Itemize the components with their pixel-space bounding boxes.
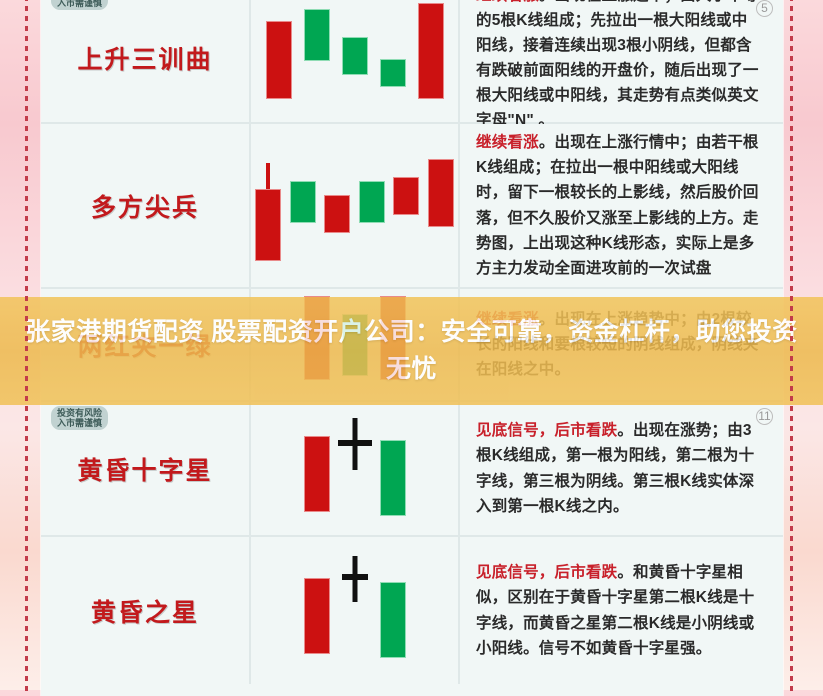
candlestick-group xyxy=(251,537,458,684)
description-keyword: 继续看涨 xyxy=(476,134,539,151)
pattern-description-text: 见底信号，后市看跌。和黄昏十字星相似，区别在于黄昏十字星第二根K线是十字线，而黄… xyxy=(476,560,761,660)
table-row: 多方尖兵继续看涨。出现在上涨行情中；由若干根K线组成；在拉出一根中阳线或大阳线时… xyxy=(41,124,783,289)
candle-body xyxy=(304,436,330,512)
candlestick xyxy=(380,556,406,666)
row-number-badge: 11 xyxy=(756,408,773,425)
candle-body xyxy=(342,314,368,376)
candle-body xyxy=(266,21,292,99)
candlestick-chart-cell xyxy=(251,0,460,122)
left-dotted-border xyxy=(25,0,28,694)
table-row: 投资有风险 入市需谨慎上升三训曲5继续看涨。出现在上涨途中；由大小不等的5根K线… xyxy=(41,0,783,124)
candlestick xyxy=(266,3,292,113)
pattern-name-label: 两红夹一绿 xyxy=(77,327,212,363)
pattern-description-cell: 5继续看涨。出现在上涨途中；由大小不等的5根K线组成；先拉出一根大阳线或中阳线，… xyxy=(460,0,783,122)
candlestick-group xyxy=(251,402,458,535)
pattern-name-cell: 投资有风险 入市需谨慎黄昏十字星 xyxy=(41,402,251,535)
risk-warning-watermark: 投资有风险 入市需谨慎 xyxy=(51,406,108,430)
pattern-description-text: 见底信号，后市看跌。出现在涨势；由3根K线组成，第一根为阳线，第二根为十字线，第… xyxy=(476,418,761,518)
pattern-name-cell: 两红夹一绿 xyxy=(41,289,251,400)
pattern-description-text: 继续看涨。出现在上涨途中；由大小不等的5根K线组成；先拉出一根大阳线或中阳线，接… xyxy=(476,0,761,133)
candlestick xyxy=(395,151,418,261)
pattern-name-cell: 多方尖兵 xyxy=(41,124,251,287)
risk-warning-watermark: 投资有风险 入市需谨慎 xyxy=(51,0,108,10)
description-body: 。出现在上涨行情中；由若干根K线组成；在拉出一根中阳线或大阳线时，留下一根较长的… xyxy=(476,134,759,277)
table-row: 黄昏之星见底信号，后市看跌。和黄昏十字星相似，区别在于黄昏十字星第二根K线是十字… xyxy=(41,537,783,684)
pattern-name-label: 上升三训曲 xyxy=(77,40,212,76)
description-body: 。出现在上涨途中；由大小不等的5根K线组成；先拉出一根大阳线或中阳线，接着连续出… xyxy=(476,0,759,129)
candle-wick xyxy=(266,163,270,191)
candle-body xyxy=(380,59,406,87)
pattern-description-cell: 11见底信号，后市看跌。出现在涨势；由3根K线组成，第一根为阳线，第二根为十字线… xyxy=(460,402,783,535)
candle-body xyxy=(359,181,385,223)
candle-body xyxy=(304,296,330,380)
pattern-name-cell: 黄昏之星 xyxy=(41,537,251,684)
pattern-name-label: 黄昏之星 xyxy=(91,593,199,629)
description-keyword: 继续看涨 xyxy=(476,311,539,328)
description-keyword: 继续看涨 xyxy=(476,0,539,4)
pattern-description-cell: 继续看涨。出现在上涨趋势中；由2根较长的阳线和要根较短的阴线组成，阴线夹在阳线之… xyxy=(460,289,783,400)
table-row: 两红夹一绿继续看涨。出现在上涨趋势中；由2根较长的阳线和要根较短的阴线组成，阴线… xyxy=(41,289,783,402)
candlestick xyxy=(304,3,330,113)
right-dotted-border xyxy=(790,0,793,694)
candlestick-group xyxy=(251,289,458,400)
pattern-description-text: 继续看涨。出现在上涨行情中；由若干根K线组成；在拉出一根中阳线或大阳线时，留下一… xyxy=(476,130,761,281)
candlestick xyxy=(380,414,406,524)
candlestick-chart-cell xyxy=(251,124,460,287)
candlestick-group xyxy=(251,124,458,287)
pattern-name-label: 黄昏十字星 xyxy=(77,451,212,487)
pattern-name-label: 多方尖兵 xyxy=(91,188,199,224)
candlestick xyxy=(257,151,280,261)
candlestick xyxy=(304,556,330,666)
candlestick-chart-cell xyxy=(251,402,460,535)
candlestick xyxy=(342,556,368,666)
candle-body xyxy=(304,578,330,654)
candlestick xyxy=(380,3,406,113)
candlestick xyxy=(342,290,368,400)
pattern-description-cell: 见底信号，后市看跌。和黄昏十字星相似，区别在于黄昏十字星第二根K线是十字线，而黄… xyxy=(460,537,783,684)
candle-body xyxy=(380,440,406,516)
candlestick-group xyxy=(251,0,458,122)
description-keyword: 见底信号， xyxy=(476,422,555,439)
candlestick-chart-cell xyxy=(251,289,460,400)
table-row: 投资有风险 入市需谨慎黄昏十字星11见底信号，后市看跌。出现在涨势；由3根K线组… xyxy=(41,402,783,537)
candlestick xyxy=(304,414,330,524)
candle-body xyxy=(342,37,368,75)
candlestick xyxy=(430,151,453,261)
candle-body xyxy=(324,195,350,233)
candle-body xyxy=(304,9,330,61)
candlestick xyxy=(418,3,444,113)
description-keyword: 见底信号， xyxy=(476,564,555,581)
pattern-description-cell: 继续看涨。出现在上涨行情中；由若干根K线组成；在拉出一根中阳线或大阳线时，留下一… xyxy=(460,124,783,287)
candle-body xyxy=(428,159,454,227)
doji-horizontal-line xyxy=(342,574,368,580)
pattern-name-cell: 投资有风险 入市需谨慎上升三训曲 xyxy=(41,0,251,122)
candlestick-chart-cell xyxy=(251,537,460,684)
doji-horizontal-line xyxy=(338,440,372,446)
candlestick xyxy=(342,3,368,113)
candle-body xyxy=(380,582,406,658)
table-rows-container: 投资有风险 入市需谨慎上升三训曲5继续看涨。出现在上涨途中；由大小不等的5根K线… xyxy=(41,0,783,684)
candlestick xyxy=(326,151,349,261)
description-keyword-secondary: 后市看跌 xyxy=(555,422,618,439)
candle-body xyxy=(418,3,444,99)
candlestick xyxy=(292,151,315,261)
candle-body xyxy=(393,177,419,215)
kline-pattern-table: 投资有风险 入市需谨慎上升三训曲5继续看涨。出现在上涨途中；由大小不等的5根K线… xyxy=(41,0,783,696)
candlestick xyxy=(342,414,368,524)
candlestick xyxy=(361,151,384,261)
candlestick xyxy=(304,290,330,400)
candle-body xyxy=(380,296,406,380)
description-keyword-secondary: 后市看跌 xyxy=(555,564,618,581)
candle-body xyxy=(255,189,281,261)
pattern-description-text: 继续看涨。出现在上涨趋势中；由2根较长的阳线和要根较短的阴线组成，阴线夹在阳线之… xyxy=(476,307,761,382)
row-number-badge: 5 xyxy=(756,0,773,17)
candle-body xyxy=(290,181,316,223)
candlestick xyxy=(380,290,406,400)
